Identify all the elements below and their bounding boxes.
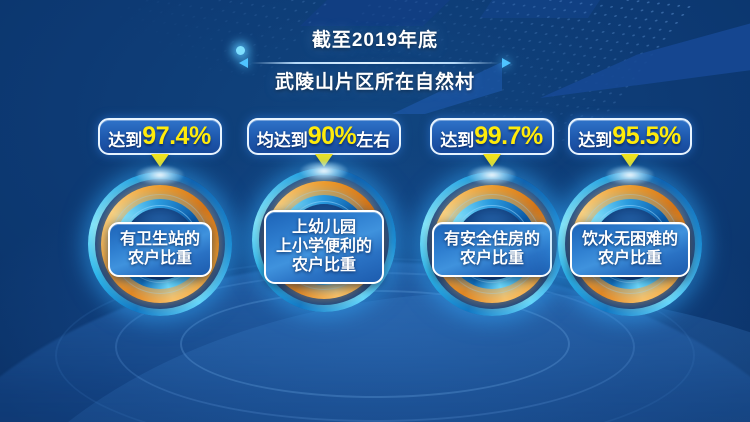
label-line: 上小学便利的 bbox=[276, 237, 372, 256]
badge-prefix: 达到 bbox=[578, 131, 612, 150]
label-line: 饮水无困难的 bbox=[582, 230, 678, 249]
ring-top-flare-icon bbox=[606, 165, 654, 185]
badge-value: 90% bbox=[308, 122, 357, 150]
badge-prefix: 达到 bbox=[108, 131, 142, 150]
ring-top-flare-icon bbox=[136, 165, 184, 185]
metric-item-drinking-water[interactable]: 达到95.5% 饮水无困难的 农户比重 bbox=[528, 118, 732, 155]
badge-value: 97.4% bbox=[142, 122, 210, 150]
label-plate[interactable]: 饮水无困难的 农户比重 bbox=[570, 222, 690, 277]
label-line: 农户比重 bbox=[444, 249, 540, 268]
badge-row: 达到95.5% bbox=[528, 118, 732, 155]
ring-top-flare-icon bbox=[468, 165, 516, 185]
metric-items: 达到97.4% 有卫生站的 农户比重 bbox=[0, 0, 750, 422]
value-badge[interactable]: 均达到90%左右 bbox=[247, 118, 402, 155]
label-line: 有卫生站的 bbox=[120, 230, 200, 249]
label-line: 农户比重 bbox=[582, 249, 678, 268]
label-line: 有安全住房的 bbox=[444, 230, 540, 249]
badge-suffix: 左右 bbox=[356, 131, 390, 150]
badge-value: 95.5% bbox=[612, 122, 680, 150]
label-plate[interactable]: 有卫生站的 农户比重 bbox=[108, 222, 212, 277]
value-badge[interactable]: 达到97.4% bbox=[98, 118, 221, 155]
infographic-stage: 截至2019年底 武陵山片区所在自然村 达到97.4% bbox=[0, 0, 750, 422]
label-line: 农户比重 bbox=[276, 256, 372, 275]
ring-top-flare-icon bbox=[300, 161, 348, 181]
label-plate[interactable]: 有安全住房的 农户比重 bbox=[432, 222, 552, 277]
badge-prefix: 达到 bbox=[440, 131, 474, 150]
label-plate[interactable]: 上幼儿园 上小学便利的 农户比重 bbox=[264, 210, 384, 284]
label-line: 上幼儿园 bbox=[276, 218, 372, 237]
value-badge[interactable]: 达到95.5% bbox=[568, 118, 691, 155]
label-line: 农户比重 bbox=[120, 249, 200, 268]
badge-prefix: 均达到 bbox=[257, 131, 308, 150]
